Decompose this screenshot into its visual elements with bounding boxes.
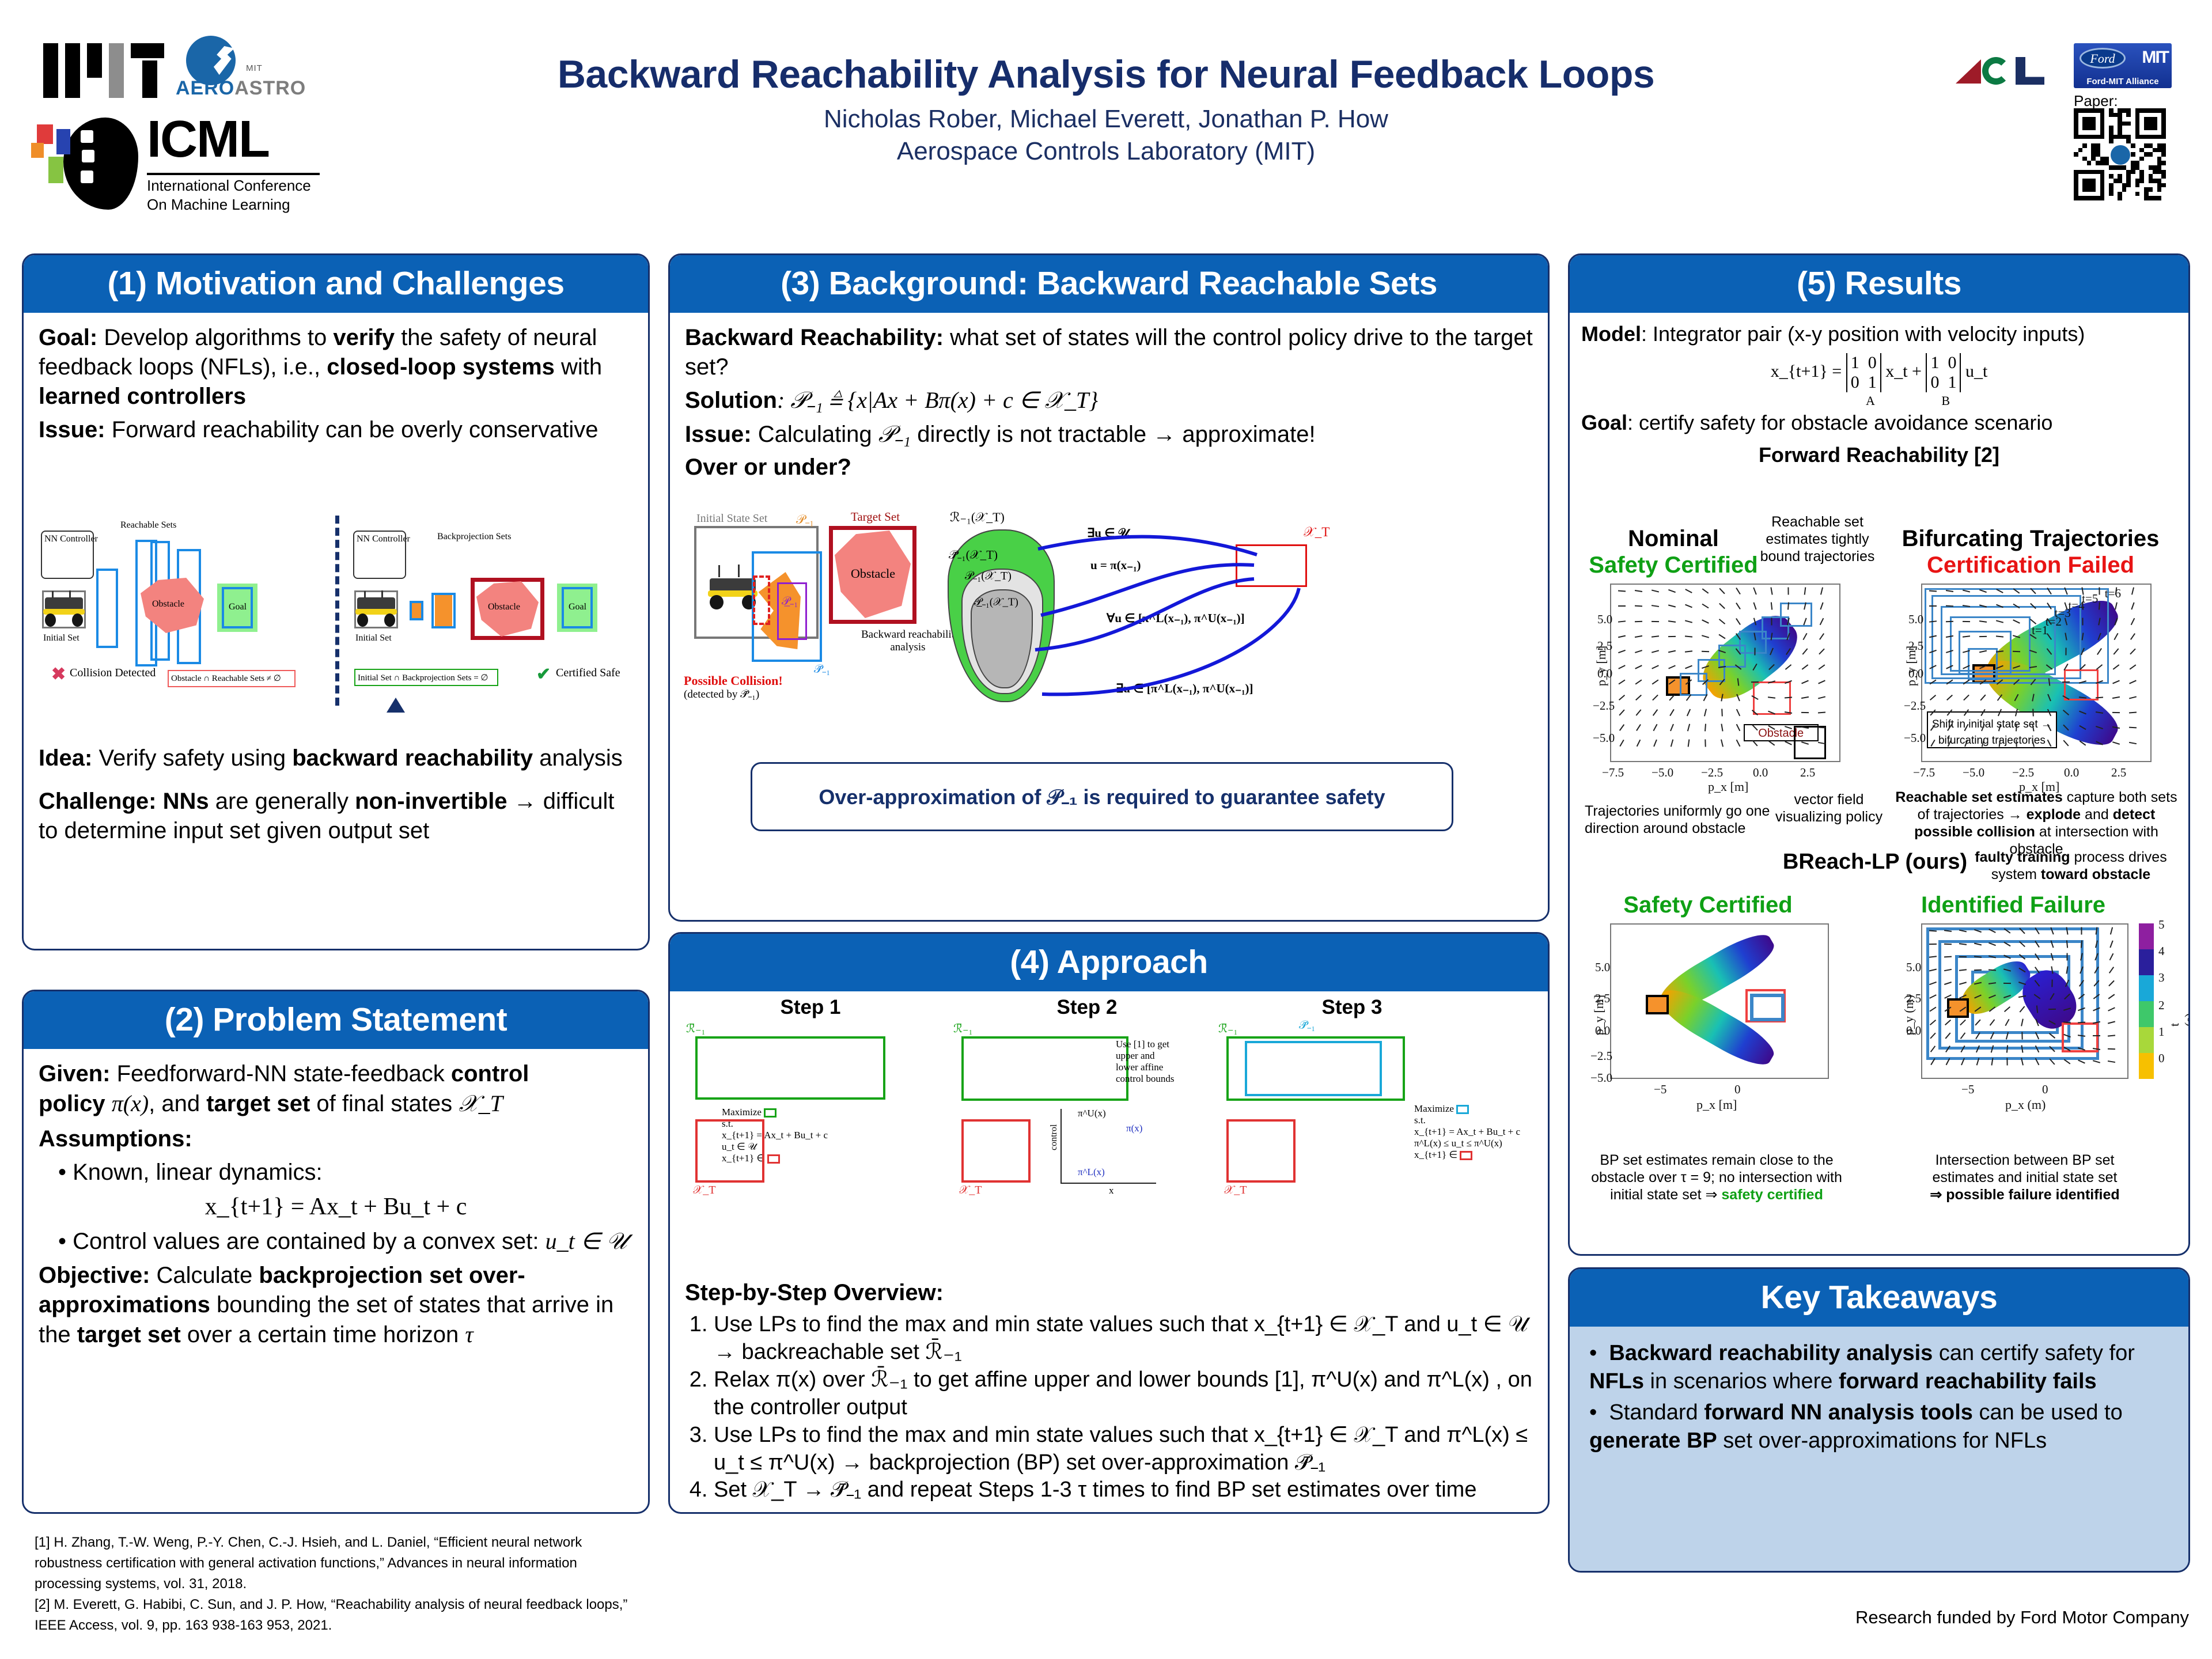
vector-field-arrow <box>1929 944 1937 945</box>
vector-field-arrow <box>2129 727 2137 729</box>
vector-field-arrow <box>1618 650 1626 653</box>
vector-field-arrow <box>1652 621 1659 622</box>
vector-field-arrow <box>2129 680 2137 684</box>
vector-field-arrow <box>1818 696 1825 699</box>
breach-left-plot <box>1610 923 1829 1079</box>
ford-wordmark: Ford <box>2080 48 2126 69</box>
time-label: t=5 <box>2082 592 2098 606</box>
vector-field-arrow <box>2021 1032 2022 1039</box>
icml-wordmark: ICML <box>147 115 269 165</box>
vector-field-arrow <box>1618 665 1626 669</box>
section4-heading: (4) Approach <box>670 934 1548 991</box>
vector-field-arrow <box>1736 618 1741 625</box>
uniform-annotation: Trajectories uniformly go one direction … <box>1585 802 1775 837</box>
step2-Rbar-label: ℛ̄₋₁ <box>953 1021 973 1036</box>
vector-field-arrow <box>1652 589 1659 592</box>
p-under-label: 𝒫̲₋₁ <box>782 595 798 608</box>
step1-XT-label: 𝒳_T <box>693 1184 715 1197</box>
pi-x-label: π(x) <box>1126 1123 1142 1134</box>
p-bar-label: 𝒫̄₋₁ <box>814 663 830 676</box>
vector-field-arrow <box>1785 664 1791 670</box>
vector-field-arrow <box>1705 724 1706 732</box>
bifurcating-status: Certification Failed <box>1892 552 2169 578</box>
vector-field-arrow <box>1930 695 1936 700</box>
aeroastro-mit-text: MIT <box>246 63 263 73</box>
Punder-XT-label: 𝒫̲₋₁(𝒳_T) <box>974 596 1018 609</box>
section1-goal: Goal: Develop algorithms to verify the s… <box>39 323 633 412</box>
forward-plots: Nominal Reachable set estimates tightly … <box>1570 526 2190 791</box>
tight-bound-annotation: Reachable set estimates tightly bound tr… <box>1754 513 1881 565</box>
bp-left-annotation: BP set estimates remain close to the obs… <box>1581 1152 1852 1203</box>
vector-field-arrow <box>2108 1060 2115 1063</box>
nominal-status: Safety Certified <box>1587 552 1760 578</box>
section3-over-under: Over or under? <box>685 453 1533 482</box>
section3-callout: Over-approximation of 𝒫₋₁ is required to… <box>751 762 1453 831</box>
bp-right-annotation: Intersection between BP set estimates an… <box>1881 1152 2169 1203</box>
ytick: 5.0 <box>1595 960 1610 975</box>
vector-field-arrow <box>1820 618 1824 625</box>
initial-set-label-right: Initial Set <box>355 633 392 643</box>
vector-field-arrow <box>1619 680 1626 685</box>
breach-right-ylabel: p_y (m) <box>1902 995 1916 1035</box>
vector-field-arrow <box>1820 587 1823 594</box>
section-approach: (4) Approach Step 1 Step 2 Step 3 ℛ̄₋₁ M… <box>668 932 1550 1514</box>
vector-field-arrow <box>1818 680 1825 684</box>
step-3-title: Step 3 <box>1266 996 1438 1019</box>
colorbar <box>2139 923 2154 1079</box>
vector-field-arrow <box>1702 635 1709 638</box>
bifurcating-ylabel: p_y [m] <box>1904 646 1919 686</box>
vector-field-arrow <box>1771 603 1772 610</box>
nominal-plot: Obstacle <box>1610 584 1840 762</box>
step1-Rbar-label: ℛ̄₋₁ <box>686 1021 706 1036</box>
vector-field-arrow <box>1719 588 1725 594</box>
cbar-tick: 1 <box>2158 1025 2165 1039</box>
initial-set-label-left: Initial Set <box>43 633 79 643</box>
vector-field-arrow <box>1652 680 1658 685</box>
capture-annotation: Reachable set estimates capture both set… <box>1892 789 2180 858</box>
detected-by-label: (detected by 𝒫̄₋₁) <box>684 688 759 701</box>
ytick: 5.0 <box>1906 960 1921 975</box>
section2-objective: Objective: Calculate backprojection set … <box>39 1261 633 1350</box>
vector-field-arrow <box>1685 604 1692 608</box>
collision-detected-label: Collision Detected <box>70 666 156 680</box>
reference-1: [1] H. Zhang, T.-W. Weng, P.-Y. Chen, C.… <box>35 1532 645 1594</box>
vector-field-arrow <box>2112 741 2120 745</box>
step-1-title: Step 1 <box>724 996 897 1019</box>
breach-right-xlabel: p_x (m) <box>2005 1097 2046 1112</box>
xtick: −2.5 <box>1701 766 1723 780</box>
vector-field-arrow <box>1801 680 1809 684</box>
xtick: 0.0 <box>2064 766 2079 780</box>
breach-left-xlabel: p_x [m] <box>1696 1097 1737 1112</box>
cbar-tick: 0 <box>2158 1051 2165 1066</box>
vector-field-arrow <box>1635 694 1642 700</box>
goal-label-left: Goal <box>229 602 247 612</box>
ford-mit-text: MIT <box>2142 48 2168 67</box>
initial-state-set-label: Initial State Set <box>696 512 767 525</box>
vector-field-arrow <box>1753 603 1757 610</box>
vector-field-arrow <box>1619 740 1624 747</box>
vector-field-arrow <box>2129 711 2137 713</box>
vector-field-arrow <box>1785 696 1792 698</box>
section5-goal: Goal: certify safety for obstacle avoida… <box>1581 410 2177 436</box>
vector-field-arrow <box>1802 664 1809 669</box>
vector-field-arrow <box>1819 649 1824 655</box>
matrixB-row1: 1 0 <box>1930 353 1956 373</box>
vector-field-arrow <box>1685 665 1692 669</box>
step-item: Use LPs to find the max and min state va… <box>714 1311 1533 1366</box>
section-motivation: (1) Motivation and Challenges Goal: Deve… <box>22 253 650 950</box>
vector-field-arrow <box>1946 694 1953 700</box>
collision-note: Obstacle ∩ Reachable Sets ≠ ∅ <box>171 673 281 684</box>
vector-field-arrow <box>2115 603 2118 610</box>
vector-field-arrow <box>1619 709 1624 715</box>
vector-field-arrow <box>1788 587 1789 594</box>
vector-field-arrow <box>1721 709 1723 716</box>
section1-issue: Issue: Forward reachability can be overl… <box>39 415 633 445</box>
cbar-tick: 3 <box>2158 971 2165 985</box>
vector-field-arrow <box>1802 649 1808 655</box>
step2-XT-label: 𝒳_T <box>959 1184 982 1197</box>
vector-field-arrow <box>1670 724 1674 732</box>
vector-field-arrow <box>1751 681 1759 683</box>
section3-heading: (3) Background: Backward Reachable Sets <box>670 255 1548 313</box>
step3-maximize: Maximize s.t. x_{t+1} = Ax_t + Bu_t + c … <box>1414 1103 1520 1161</box>
forall-u-label: ∀u ∈ [π^L(x₋₁), π^U(x₋₁)] <box>1107 611 1245 626</box>
vector-field-arrow <box>1668 605 1676 608</box>
acl-logo <box>1956 55 2054 89</box>
robot-icon-right <box>354 590 398 628</box>
matrixB-row2: 0 1 <box>1930 373 1956 392</box>
takeaways-heading: Key Takeaways <box>1570 1269 2188 1327</box>
reference-2: [2] M. Everett, G. Habibi, C. Sun, and J… <box>35 1594 645 1636</box>
vector-field-arrow <box>2109 940 2113 948</box>
vector-field-arrow <box>1980 694 1986 700</box>
bifurcating-title: Bifurcating Trajectories <box>1892 526 2169 552</box>
vector-field-arrow <box>2108 1021 2115 1024</box>
icml-subtitle: International Conference On Machine Lear… <box>147 176 311 214</box>
ytick: −2.5 <box>1590 1049 1612 1063</box>
qr-center-icon <box>2111 145 2130 165</box>
ford-alliance-caption: Ford-MIT Alliance <box>2074 77 2172 86</box>
vector-field-arrow <box>1702 588 1709 593</box>
matrix-B-label: B <box>1941 393 1950 408</box>
vector-field-arrow <box>1635 590 1642 592</box>
page-title: Backward Reachability Analysis for Neura… <box>484 52 1728 97</box>
vector-field-arrow <box>2108 980 2115 987</box>
step-item: Use LPs to find the max and min state va… <box>714 1422 1533 1477</box>
possible-collision-label: Possible Collision! <box>684 673 783 688</box>
vector-field-arrow <box>1618 620 1626 622</box>
backprojection-sets-label: Backprojection Sets <box>437 532 511 542</box>
P-XT-label: 𝒫₋₁(𝒳_T) <box>965 570 1012 583</box>
vector-field-arrow <box>1718 619 1725 624</box>
step3-XT-label: 𝒳_T <box>1224 1184 1247 1197</box>
vector-field-arrow <box>1635 665 1642 669</box>
ytick: 5.0 <box>1597 612 1612 627</box>
paper-qr-label: Paper: <box>2074 92 2118 110</box>
references-block: [1] H. Zhang, T.-W. Weng, P.-Y. Chen, C.… <box>35 1532 645 1636</box>
x-axis-label: x <box>1109 1185 1114 1196</box>
vector-field-arrow <box>1668 589 1676 593</box>
vector-field-arrow <box>2063 740 2069 746</box>
control-axis-label: control <box>1049 1124 1059 1150</box>
ford-mit-alliance-logo: Ford MIT Ford-MIT Alliance <box>2074 43 2172 88</box>
ytick: −5.0 <box>1590 1071 1612 1085</box>
certified-check-icon: ✔ <box>536 664 551 684</box>
piU-label: π^U(x) <box>1078 1108 1106 1119</box>
breach-left-status: Safety Certified <box>1587 892 1829 918</box>
step-2-title: Step 2 <box>1001 996 1173 1019</box>
mit-aeroastro-logo: MIT AEROASTRO <box>176 36 285 102</box>
collision-x-icon: ✖ <box>51 664 66 684</box>
cbar-tick: 4 <box>2158 944 2165 959</box>
vector-field-arrow <box>2110 927 2113 934</box>
vector-field-arrow <box>1653 739 1657 747</box>
vector-field-arrow <box>1785 741 1792 745</box>
icml-logo: ICML International Conference On Machine… <box>29 115 351 213</box>
shift-note: Shift in initial state set → bifurcating… <box>1927 711 2057 748</box>
ytick: −2.5 <box>1904 699 1926 713</box>
vector-field-arrow <box>1705 739 1706 747</box>
vector-field-arrow <box>2130 664 2137 669</box>
bifurcating-plot: t=1 t=2 t=3 t=4 t=5 t=6 Shift in initial… <box>1921 584 2152 762</box>
ytick: −2.5 <box>1593 699 1615 713</box>
breach-left-ylabel: p_y [m] <box>1592 995 1607 1035</box>
target-set-label: Target Set <box>851 510 900 524</box>
xtick: 2.5 <box>2111 766 2126 780</box>
vector-field-arrow <box>2113 664 2120 669</box>
vector-field-arrow <box>1668 665 1676 669</box>
matrix-A-label: A <box>1866 393 1875 408</box>
section1-heading: (1) Motivation and Challenges <box>24 255 648 313</box>
vector-field-arrow <box>1818 711 1825 713</box>
breach-right-plot <box>1921 923 2128 1079</box>
p-minus1-label: 𝒫₋₁ <box>796 512 814 527</box>
section5-heading: (5) Results <box>1570 255 2188 313</box>
vector-field-arrow <box>2062 681 2070 683</box>
section2-assumptions-label: Assumptions: <box>39 1124 633 1154</box>
faulty-annotation: faulty training process drives system to… <box>1961 849 2180 883</box>
section2-bullet-2: • Control values are contained by a conv… <box>58 1226 633 1256</box>
xtick: −2.5 <box>2012 766 2034 780</box>
vector-field-arrow <box>1668 620 1676 623</box>
affiliation: Aerospace Controls Laboratory (MIT) <box>484 137 1728 166</box>
vector-field-arrow <box>2130 633 2135 640</box>
xtick: −7.5 <box>1602 766 1624 780</box>
vector-field-arrow <box>2109 967 2114 974</box>
section-results: (5) Results Model: Integrator pair (x-y … <box>1568 253 2190 1256</box>
author-list: Nicholas Rober, Michael Everett, Jonatha… <box>484 105 1728 134</box>
step-item: Set 𝒳_T → 𝒫̄₋₁ and repeat Steps 1-3 τ ti… <box>714 1476 1533 1504</box>
vector-field-arrow <box>1702 651 1709 652</box>
vector-field-arrow <box>2114 633 2119 640</box>
section4-overview-label: Step-by-Step Overview: <box>685 1278 1533 1308</box>
section4-figure: Step 1 Step 2 Step 3 ℛ̄₋₁ Maximize s.t. … <box>678 996 1525 1203</box>
XT-label: 𝒳_T <box>1304 525 1330 540</box>
vector-field-arrow <box>1653 709 1658 716</box>
vector-field-arrow <box>1652 650 1659 653</box>
nominal-title: Nominal <box>1587 526 1760 552</box>
vector-field-arrow <box>1702 619 1709 623</box>
vector-field-arrow <box>1652 605 1659 607</box>
vector-field-arrow <box>2112 696 2120 698</box>
vector-field-arrow <box>2093 1035 2100 1036</box>
R-XT-label: ℛ₋₁(𝒳_T) <box>950 510 1005 525</box>
vector-field-arrow <box>1653 724 1657 731</box>
breach-right-status: Identified Failure <box>1892 892 2134 918</box>
step3-Rbar-label: ℛ̄₋₁ <box>1218 1021 1238 1036</box>
xtick: −7.5 <box>1913 766 1935 780</box>
vector-field-arrow <box>1619 724 1624 731</box>
vector-field-arrow <box>2108 1048 2115 1050</box>
vector-field-arrow <box>1685 635 1692 637</box>
robot-icon-left <box>42 590 86 628</box>
vector-field-arrow <box>1685 651 1692 653</box>
vector-field-arrow <box>2130 649 2135 655</box>
section3-solution: Solution: 𝒫₋₁ ≜ {x|Ax + Bπ(x) + c ∈ 𝒳_T} <box>685 385 1533 415</box>
section1-challenge: Challenge: NNs are generally non-inverti… <box>39 787 633 846</box>
vector-field-arrow <box>2129 696 2137 699</box>
vector-field-arrow <box>1687 724 1690 732</box>
forward-reachability-heading: Forward Reachability [2] <box>1581 443 2177 467</box>
vector-field-arrow <box>1668 636 1676 637</box>
obstacle-label-left: Obstacle <box>152 599 184 609</box>
vector-field-arrow <box>1652 635 1659 637</box>
ytick: −5.0 <box>1593 731 1615 745</box>
exists-u-U-label: ∃u ∈ 𝒰 <box>1087 526 1129 540</box>
exists-u-pi-label: ∃u ∈ [π^L(x₋₁), π^U(x₋₁)] <box>1116 681 1253 696</box>
vector-field-arrow <box>1736 724 1741 732</box>
step3-Pbar-label: 𝒫̄₋₁ <box>1299 1019 1315 1032</box>
breach-plots: Safety Certified Identified Failure 5.0 … <box>1570 892 2190 1134</box>
vector-field-arrow <box>1702 604 1709 609</box>
vector-field-arrow <box>2093 1060 2100 1063</box>
vector-field-arrow <box>2032 709 2034 716</box>
vector-field-arrow <box>2109 953 2114 960</box>
vector-field-arrow <box>2016 739 2017 747</box>
section-problem-statement: (2) Problem Statement Given: Feedforward… <box>22 990 650 1514</box>
vector-field-arrow <box>1753 588 1757 595</box>
vector-field-arrow <box>1719 603 1725 609</box>
takeaway-item: • Backward reachability analysis can cer… <box>1589 1339 2173 1395</box>
vector-field-arrow <box>1736 588 1741 594</box>
vector-field-arrow <box>1804 587 1806 594</box>
paper-qr-code[interactable] <box>2074 108 2166 200</box>
takeaway-item: • Standard forward NN analysis tools can… <box>1589 1399 2173 1455</box>
backward-analysis-label: Backward reachabilit analysis <box>861 628 955 654</box>
vector-field-arrow <box>2096 696 2103 698</box>
vector-field-arrow <box>2051 979 2052 987</box>
vector-field-arrow <box>1721 739 1724 747</box>
vector-field-arrow <box>1619 695 1625 700</box>
vector-field-arrow <box>1636 724 1641 731</box>
section-background: (3) Background: Backward Reachable Sets … <box>668 253 1550 922</box>
vector-field-arrow <box>1736 709 1740 717</box>
vector-field-arrow <box>1671 739 1673 747</box>
vector-field-arrow <box>2112 712 2120 713</box>
vector-field-arrow <box>1635 605 1642 607</box>
vector-field-arrow <box>1803 633 1808 640</box>
vector-field-arrow <box>2078 1060 2086 1064</box>
vector-field-arrow <box>1944 943 1952 945</box>
time-label: t=6 <box>2105 586 2121 601</box>
nominal-ylabel: p_y [m] <box>1594 646 1609 686</box>
vecfield-annotation: vector field visualizing policy <box>1771 791 1887 825</box>
section-key-takeaways: Key Takeaways • Backward reachability an… <box>1568 1267 2190 1573</box>
section3-figure: Initial State Set 𝒫₋₁ 𝒫̲₋₁ 𝒫̄₋₁ Target S… <box>678 509 1525 756</box>
matrixA-row1: 1 0 <box>1851 353 1877 373</box>
xtick: 2.5 <box>1800 766 1815 780</box>
vector-field-arrow <box>2131 618 2135 625</box>
mit-logo <box>43 43 164 98</box>
vector-field-arrow <box>1771 587 1773 594</box>
vector-field-arrow <box>1652 665 1659 669</box>
vector-field-arrow <box>1618 605 1626 607</box>
goal-label-right: Goal <box>569 602 586 612</box>
xtick: −5 <box>1654 1082 1666 1097</box>
vector-field-arrow <box>1963 694 1969 700</box>
cbar-tick: 2 <box>2158 998 2165 1013</box>
vector-field-arrow <box>1618 590 1626 592</box>
vector-field-arrow <box>1801 696 1809 698</box>
vector-field-arrow <box>1819 664 1825 669</box>
xtick: 0 <box>1734 1082 1741 1097</box>
safe-note: Initial Set ∩ Backprojection Sets = ∅ <box>358 672 488 683</box>
vector-field-arrow <box>2066 953 2067 961</box>
vector-field-arrow <box>1668 650 1676 653</box>
vector-field-arrow <box>1637 739 1641 747</box>
vector-field-arrow <box>1635 635 1642 638</box>
xtick: 0 <box>2042 1082 2048 1097</box>
obstacle-label-s3: Obstacle <box>851 566 895 581</box>
nominal-xlabel: p_x [m] <box>1708 779 1748 794</box>
xtick: 0.0 <box>1753 766 1768 780</box>
obstacle-label-right: Obstacle <box>488 602 520 612</box>
xtick: −5.0 <box>1963 766 1984 780</box>
vector-field-arrow <box>1820 603 1823 610</box>
piL-label: π^L(x) <box>1078 1166 1105 1178</box>
vector-field-arrow <box>1635 709 1641 715</box>
section2-bullet-1: • Known, linear dynamics: <box>58 1158 633 1187</box>
section2-given: Given: Feedforward-NN state-feedback con… <box>39 1059 633 1119</box>
section5-model: Model: Integrator pair (x-y position wit… <box>1581 321 2177 347</box>
model-equation: x_{t+1} = 1 0 0 1 x_t + 1 0 0 1 u_t A B <box>1581 353 2177 408</box>
cbar-tick: 5 <box>2158 918 2165 932</box>
vector-field-arrow <box>2108 1035 2115 1036</box>
section3-backward-reach: Backward Reachability: what set of state… <box>685 323 1533 382</box>
ytick: −5.0 <box>1904 731 1926 745</box>
vector-field-arrow <box>2113 649 2119 655</box>
vector-field-arrow <box>1635 650 1642 654</box>
title-block: Backward Reachability Analysis for Neura… <box>484 52 1728 166</box>
vector-field-arrow <box>1635 680 1642 685</box>
u-eq-pi-label: u = π(x₋₁) <box>1090 558 1141 573</box>
section2-dynamics-equation: x_{t+1} = Ax_t + Bu_t + c <box>39 1193 633 1221</box>
section1-figure: NN Controller Reachable Sets Initial Set… <box>34 516 643 717</box>
reachable-sets-label: Reachable Sets <box>120 520 176 531</box>
xtick: −5.0 <box>1652 766 1673 780</box>
vector-field-arrow <box>1801 712 1809 713</box>
vector-field-arrow <box>1652 694 1658 700</box>
vector-field-arrow <box>1704 709 1707 716</box>
matrixA-row2: 0 1 <box>1851 373 1877 392</box>
vector-field-arrow <box>2129 741 2137 744</box>
xtick: −5 <box>1961 1082 1974 1097</box>
step2-use-ref: Use [1] to get upper and lower affine co… <box>1116 1039 1175 1085</box>
vector-field-arrow <box>2108 1007 2115 1012</box>
